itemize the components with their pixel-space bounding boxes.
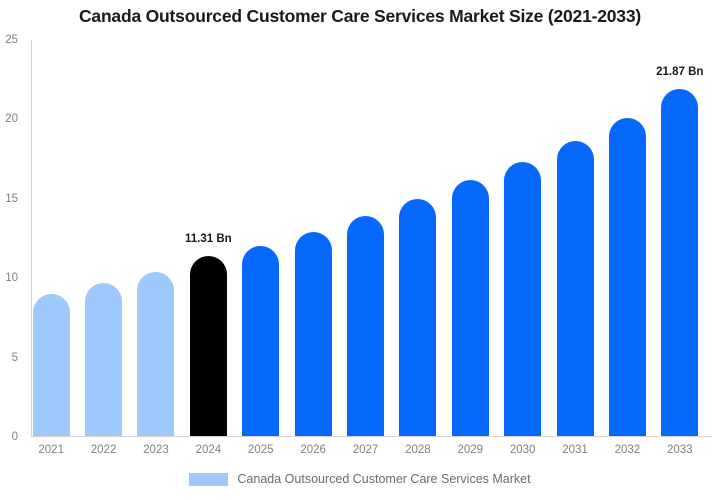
y-axis-tick-label: 10: [0, 272, 18, 284]
bar[interactable]: [190, 256, 227, 436]
legend-item-label: Canada Outsourced Customer Care Services…: [237, 472, 530, 486]
bar[interactable]: [609, 118, 646, 436]
bar[interactable]: [295, 232, 332, 436]
bar-value-label: 11.31 Bn: [185, 233, 232, 245]
plot-area: 0510152025 20212022202320242025202620272…: [31, 40, 712, 437]
chart-legend: Canada Outsourced Customer Care Services…: [0, 472, 720, 486]
bar[interactable]: [347, 216, 384, 436]
chart-title: Canada Outsourced Customer Care Services…: [0, 6, 720, 27]
bar[interactable]: [33, 294, 70, 436]
bar[interactable]: [137, 272, 174, 436]
x-axis-tick-label: 2022: [91, 444, 117, 456]
y-axis-tick-label: 5: [0, 352, 18, 364]
legend-swatch-icon: [189, 473, 228, 486]
bar[interactable]: [399, 199, 436, 436]
bar-value-label: 21.87 Bn: [656, 66, 703, 78]
x-axis-tick-label: 2028: [405, 444, 431, 456]
x-axis-tick-label: 2027: [353, 444, 379, 456]
x-axis-tick-label: 2024: [196, 444, 222, 456]
x-axis-tick-label: 2030: [510, 444, 536, 456]
bar[interactable]: [557, 141, 594, 436]
bar[interactable]: [452, 180, 489, 436]
x-axis-tick-label: 2033: [667, 444, 693, 456]
bar[interactable]: [504, 162, 541, 436]
bar[interactable]: [661, 89, 698, 436]
y-axis-line: [31, 40, 32, 437]
y-axis-tick-label: 15: [0, 193, 18, 205]
x-axis-tick-label: 2021: [38, 444, 64, 456]
x-axis-line: [31, 436, 712, 437]
y-axis-tick-label: 0: [0, 431, 18, 443]
x-axis-tick-label: 2026: [300, 444, 326, 456]
bar[interactable]: [242, 246, 279, 436]
y-axis-tick-label: 20: [0, 113, 18, 125]
bar[interactable]: [85, 283, 122, 436]
x-axis-tick-label: 2031: [562, 444, 588, 456]
x-axis-tick-label: 2029: [457, 444, 483, 456]
bar-chart: Canada Outsourced Customer Care Services…: [0, 0, 720, 500]
x-axis-tick-label: 2025: [248, 444, 274, 456]
y-axis-tick-label: 25: [0, 34, 18, 46]
x-axis-tick-label: 2032: [615, 444, 641, 456]
legend-item[interactable]: Canada Outsourced Customer Care Services…: [189, 472, 530, 486]
x-axis-tick-label: 2023: [143, 444, 169, 456]
